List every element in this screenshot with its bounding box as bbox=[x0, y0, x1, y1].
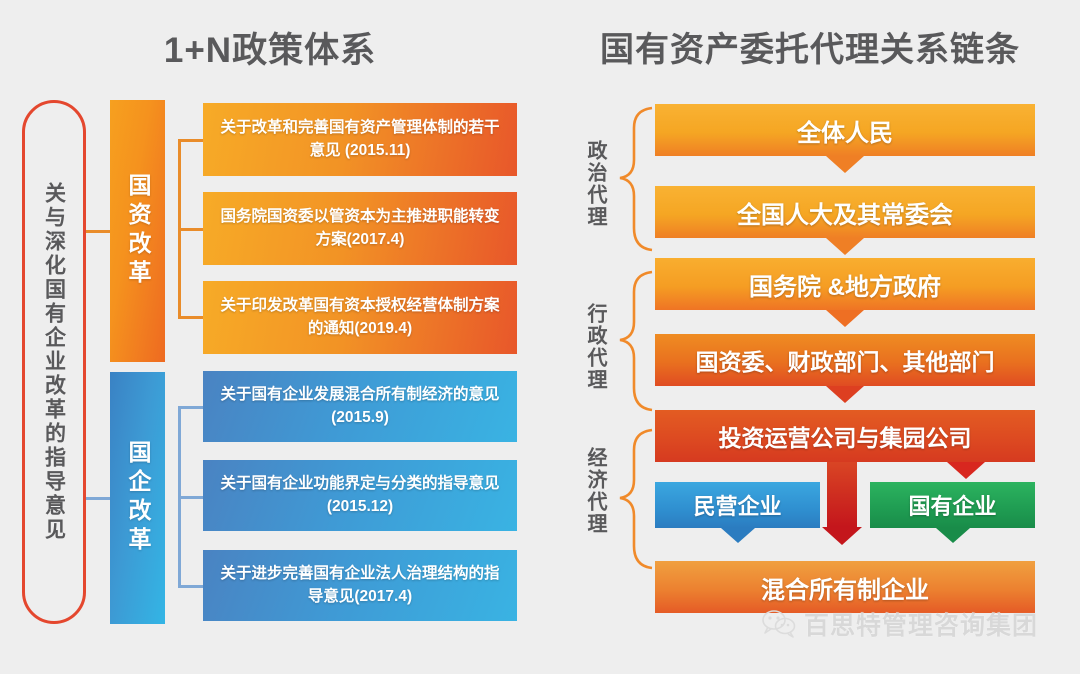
chain-box-label: 全体人民 bbox=[797, 113, 893, 148]
chevron-down-icon bbox=[822, 527, 862, 545]
connector-branch-orange-2 bbox=[178, 228, 203, 231]
wechat-icon bbox=[762, 610, 796, 638]
chevron-down-icon bbox=[826, 310, 864, 327]
capsule-label: 关与深化国有企业改革的指导意见 bbox=[44, 182, 65, 542]
policy-doc-card[interactable]: 国务院国资委以管资本为主推进职能转变方案(2017.4) bbox=[203, 192, 517, 265]
chain-box-label: 国务院 &地方政府 bbox=[749, 267, 941, 302]
chain-box-label: 投资运营公司与集园公司 bbox=[719, 419, 972, 453]
connector-branch-blue-1 bbox=[178, 406, 203, 409]
connector-branch-orange-1 bbox=[178, 139, 203, 142]
chevron-down-icon bbox=[947, 462, 985, 479]
connector-branch-blue-3 bbox=[178, 585, 203, 588]
connector-branch-blue-2 bbox=[178, 496, 203, 499]
category-bar-guozi-reform: 国资改革 bbox=[110, 100, 165, 362]
page-title-right: 国有资产委托代理关系链条 bbox=[540, 22, 1080, 71]
chain-box-label: 全国人大及其常委会 bbox=[737, 195, 953, 230]
branch-box-soe[interactable]: 国有企业 bbox=[870, 482, 1035, 528]
connector-capsule-to-guozi bbox=[86, 230, 112, 233]
chain-box[interactable]: 投资运营公司与集园公司 bbox=[655, 410, 1035, 462]
chain-box[interactable]: 国务院 &地方政府 bbox=[655, 258, 1035, 310]
policy-doc-card[interactable]: 关于进步完善国有企业法人治理结构的指导意见(2017.4) bbox=[203, 550, 517, 621]
page-title-left: 1+N政策体系 bbox=[0, 22, 540, 73]
chevron-down-icon bbox=[826, 238, 864, 255]
chain-box[interactable]: 国资委、财政部门、其他部门 bbox=[655, 334, 1035, 386]
chevron-down-icon bbox=[936, 528, 970, 543]
brace-label-economic: 经济代理 bbox=[585, 447, 605, 535]
category-bar-guoqi-reform: 国企改革 bbox=[110, 372, 165, 624]
connector-capsule-to-guoqi bbox=[86, 497, 112, 500]
connector-branch-orange-3 bbox=[178, 316, 203, 319]
watermark-text: 百思特管理咨询集团 bbox=[804, 606, 1038, 642]
chevron-down-icon bbox=[826, 156, 864, 173]
branch-box-private[interactable]: 民营企业 bbox=[655, 482, 820, 528]
category-bar-guozi-label: 国资改革 bbox=[126, 173, 149, 289]
chevron-down-icon bbox=[721, 528, 755, 543]
policy-doc-card[interactable]: 关于改革和完善国有资产管理体制的若干意见 (2015.11) bbox=[203, 103, 517, 176]
chain-box-label: 国资委、财政部门、其他部门 bbox=[696, 343, 995, 377]
branch-box-label: 国有企业 bbox=[908, 489, 996, 521]
policy-system-panel: 1+N政策体系 关与深化国有企业改革的指导意见 国资改革 国企改革 关于改革和完… bbox=[0, 0, 540, 674]
policy-doc-card[interactable]: 关于印发改革国有资本授权经营体制方案的通知(2019.4) bbox=[203, 281, 517, 354]
chain-box[interactable]: 全体人民 bbox=[655, 104, 1035, 156]
branch-box-label: 民营企业 bbox=[693, 489, 781, 521]
policy-doc-card[interactable]: 关于国有企业发展混合所有制经济的意见 (2015.9) bbox=[203, 371, 517, 442]
brace-label-administrative: 行政代理 bbox=[585, 303, 605, 391]
policy-doc-card[interactable]: 关于国有企业功能界定与分类的指导意见(2015.12) bbox=[203, 460, 517, 531]
chevron-down-icon bbox=[826, 386, 864, 403]
chain-box-label: 混合所有制企业 bbox=[761, 570, 929, 605]
category-bar-guoqi-label: 国企改革 bbox=[126, 440, 149, 556]
watermark: 百思特管理咨询集团 bbox=[762, 606, 1038, 642]
guiding-opinion-capsule: 关与深化国有企业改革的指导意见 bbox=[22, 100, 86, 624]
brace-label-political: 政治代理 bbox=[585, 140, 605, 228]
connector-red-stem bbox=[827, 462, 857, 527]
chain-box[interactable]: 全国人大及其常委会 bbox=[655, 186, 1035, 238]
